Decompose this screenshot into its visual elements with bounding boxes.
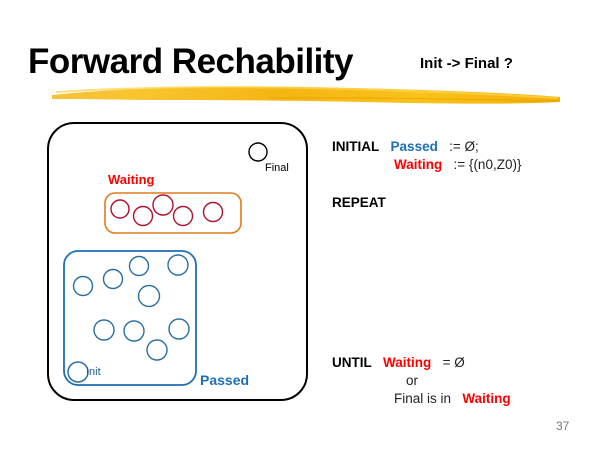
passed-assignment: := Ø; (449, 139, 479, 154)
initial-keyword: INITIAL (332, 139, 379, 154)
until-waiting-keyword: Waiting (383, 355, 431, 370)
passed-circle (94, 320, 114, 340)
passed-circle (124, 321, 144, 341)
passed-set-label: Passed (200, 372, 249, 388)
passed-circle (147, 340, 167, 360)
final-state-circle (249, 143, 267, 161)
init-state-label: Init (86, 366, 101, 378)
slide-canvas: Forward Rechability Init -> Final ? (0, 0, 600, 450)
waiting-keyword: Waiting (394, 157, 442, 172)
final-in-text: Final is in (394, 391, 451, 406)
waiting-circle (204, 203, 223, 222)
waiting-set-label: Waiting (108, 172, 154, 187)
page-number: 37 (556, 419, 569, 433)
algorithm-until-row: UNTIL Waiting = Ø (332, 354, 465, 372)
passed-circle (168, 255, 188, 275)
passed-state-circles (74, 255, 190, 360)
repeat-keyword: REPEAT (332, 195, 386, 210)
algorithm-initial-row: INITIAL Passed := Ø; (332, 138, 479, 156)
passed-set-box (64, 251, 196, 385)
waiting-assignment: := {(n0,Z0)} (454, 157, 522, 172)
waiting-state-circles (111, 195, 223, 226)
passed-keyword: Passed (391, 139, 438, 154)
algorithm-final-in-row: Final is in Waiting (394, 390, 511, 408)
passed-circle (139, 286, 160, 307)
waiting-circle (111, 200, 129, 218)
until-keyword: UNTIL (332, 355, 372, 370)
waiting-circle (153, 195, 173, 215)
passed-circle (104, 270, 123, 289)
init-state-circle (68, 362, 88, 382)
waiting-circle (134, 207, 153, 226)
algorithm-repeat-row: REPEAT (332, 194, 386, 212)
passed-circle (169, 319, 189, 339)
waiting-circle (174, 207, 193, 226)
passed-circle (74, 277, 93, 296)
or-text: or (406, 373, 418, 388)
waiting-set-box (105, 193, 241, 233)
slide-subtitle: Init -> Final ? (420, 55, 513, 72)
algorithm-waiting-row: Waiting := {(n0,Z0)} (394, 156, 521, 174)
algorithm-or-row: or (406, 372, 418, 390)
until-waiting-condition: = Ø (443, 355, 465, 370)
final-state-label: Final (265, 162, 289, 174)
passed-circle (130, 257, 149, 276)
final-in-waiting-keyword: Waiting (462, 391, 510, 406)
reachability-diagram (0, 0, 330, 450)
